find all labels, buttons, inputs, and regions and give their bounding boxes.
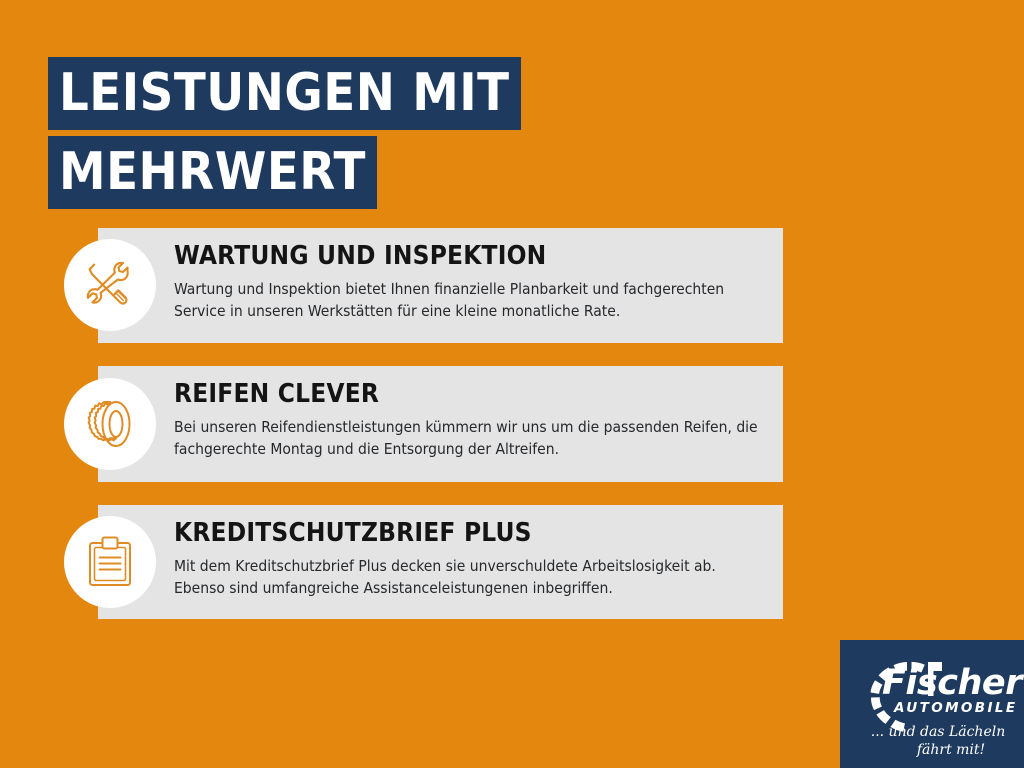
page-title-line-1: LEISTUNGEN MIT (48, 57, 521, 130)
page-title-line-2: MEHRWERT (48, 136, 377, 209)
logo-claim-line-2: fährt mit! (858, 742, 1018, 760)
logo-claim-line-1: ... und das Lächeln (871, 724, 1005, 740)
card-heading: KREDITSCHUTZBRIEF PLUS (174, 519, 763, 548)
page-title: LEISTUNGEN MIT MEHRWERT (48, 57, 521, 209)
logo-brand-name: Fischer (882, 666, 1022, 701)
service-card-kreditschutzbrief-plus[interactable]: KREDITSCHUTZBRIEF PLUS Mit dem Kreditsch… (98, 505, 783, 619)
service-card-reifen-clever[interactable]: REIFEN CLEVER Bei unseren Reifendienstle… (98, 366, 783, 482)
service-card-wartung-und-inspektion[interactable]: WARTUNG UND INSPEKTION Wartung und Inspe… (98, 228, 783, 343)
clipboard-icon (64, 516, 156, 608)
card-heading: REIFEN CLEVER (174, 380, 763, 409)
logo-claim: ... und das Lächeln fährt mit! (858, 724, 1018, 759)
card-heading: WARTUNG UND INSPEKTION (174, 242, 763, 271)
wrench-screwdriver-icon (64, 239, 156, 331)
fischer-automobile-logo[interactable]: Fischer AUTOMOBILE ... und das Lächeln f… (840, 640, 1024, 768)
tire-icon (64, 378, 156, 470)
card-body: Wartung und Inspektion bietet Ihnen fina… (174, 278, 763, 322)
logo-subtitle: AUTOMOBILE (894, 702, 1018, 716)
card-body: Bei unseren Reifendienstleistungen kümme… (174, 416, 763, 460)
card-body: Mit dem Kreditschutzbrief Plus decken si… (174, 555, 763, 599)
slide-canvas: LEISTUNGEN MIT MEHRWERT WARTUNG UND INSP… (0, 0, 1024, 768)
